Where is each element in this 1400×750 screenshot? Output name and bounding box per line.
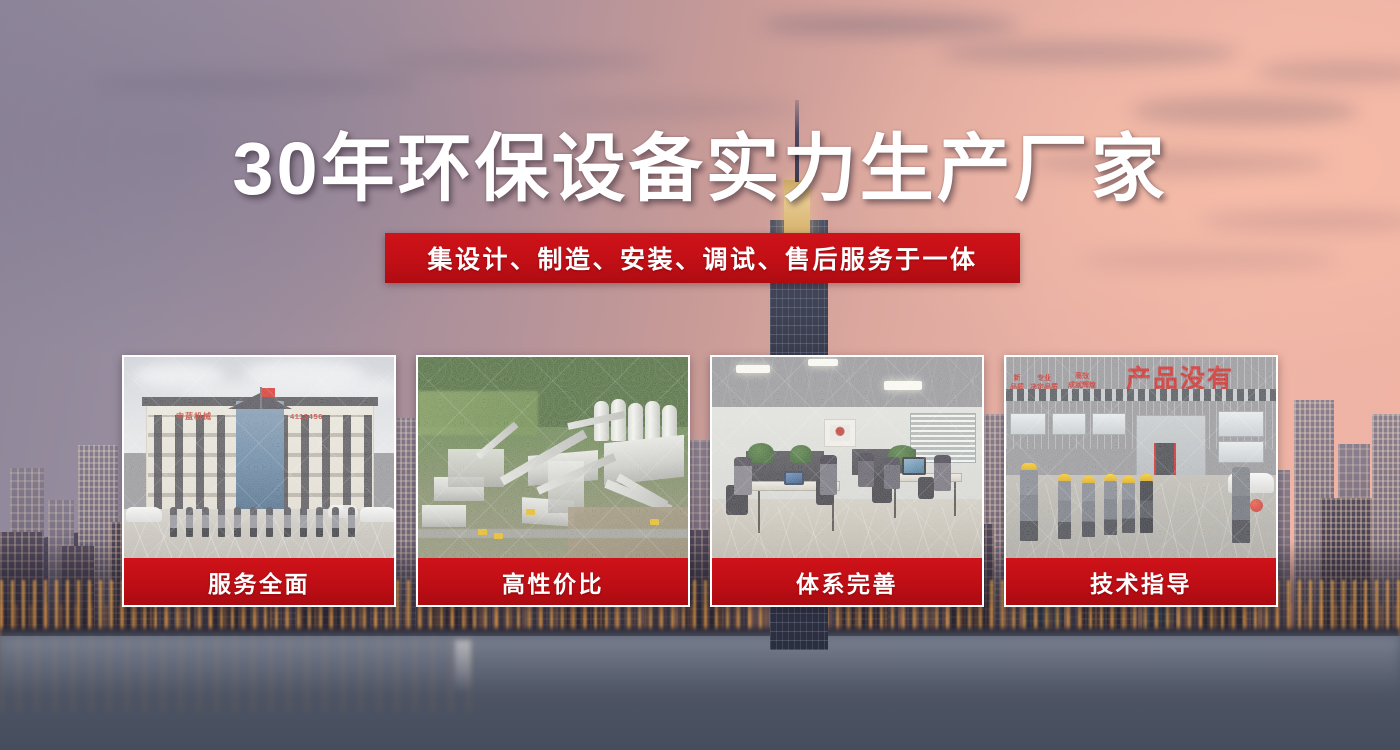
water-light-streak	[455, 640, 471, 692]
workshop-training-photo: 产品没有 新品质 专业决定品质 高效成就辉煌	[1006, 357, 1276, 558]
card-caption: 高性价比	[418, 558, 688, 605]
cloud	[90, 74, 420, 94]
cloud	[560, 100, 800, 116]
building-phone-number: 4113456	[290, 412, 323, 421]
cloud	[760, 14, 1020, 36]
office-interior-photo	[712, 357, 982, 558]
feature-card[interactable]: 体系完善	[710, 355, 984, 607]
cloud	[1130, 96, 1360, 126]
water-reflections	[0, 636, 470, 712]
cloud	[380, 52, 660, 70]
hero-banner: 30年环保设备实力生产厂家 集设计、制造、安装、调试、售后服务于一体 中蓝机械	[0, 0, 1400, 750]
feature-card-row: 中蓝机械 4113456 服	[122, 355, 1278, 607]
feature-card[interactable]: 中蓝机械 4113456 服	[122, 355, 396, 607]
page-title: 30年环保设备实力生产厂家	[0, 132, 1400, 206]
production-plant-aerial-photo	[418, 357, 688, 558]
cloud	[940, 40, 1240, 66]
subtitle-text: 集设计、制造、安装、调试、售后服务于一体	[427, 240, 977, 276]
company-headquarters-photo: 中蓝机械 4113456	[124, 357, 394, 558]
card-caption: 服务全面	[124, 558, 394, 605]
feature-card[interactable]: 高性价比	[416, 355, 690, 607]
building-signage: 中蓝机械	[176, 411, 212, 422]
subtitle-banner: 集设计、制造、安装、调试、售后服务于一体	[385, 233, 1020, 283]
card-caption: 体系完善	[712, 558, 982, 605]
feature-card[interactable]: 产品没有 新品质 专业决定品质 高效成就辉煌	[1004, 355, 1278, 607]
card-caption: 技术指导	[1006, 558, 1276, 605]
street-lights-row2	[0, 604, 1400, 630]
